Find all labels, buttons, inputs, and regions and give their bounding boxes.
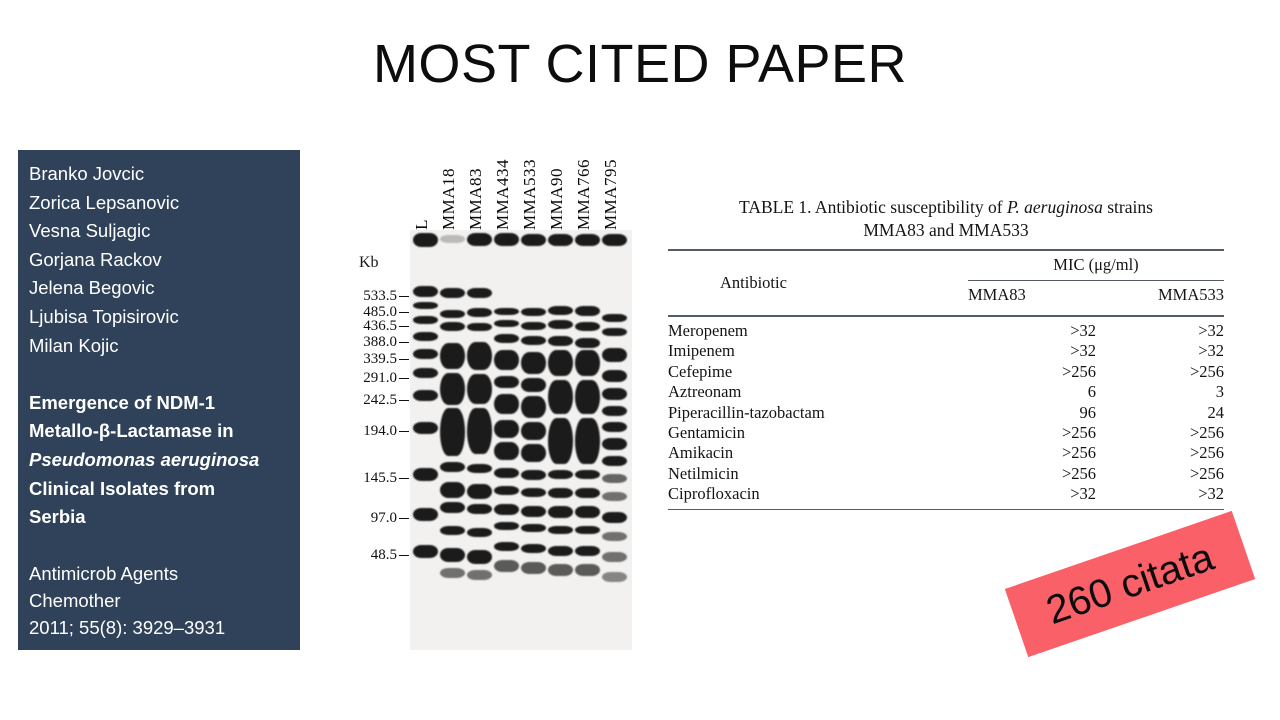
gel-lane-label: MMA533 [520, 159, 540, 230]
table-body: Meropenem >32 >32 Imipenem >32 >32 Cefep… [668, 317, 1224, 505]
citation-count-badge: 260 citata [1005, 511, 1255, 657]
gel-lane-label: MMA766 [574, 159, 594, 230]
table-row: Aztreonam 6 3 [668, 382, 1224, 402]
author-name: Ljubisa Topisirovic [29, 303, 300, 332]
gel-size-marker: 388.0 [329, 334, 409, 351]
table-row: Meropenem >32 >32 [668, 321, 1224, 341]
author-name: Zorica Lepsanovic [29, 189, 300, 218]
cell-antibiotic: Piperacillin-tazobactam [668, 403, 968, 423]
gel-size-marker: 145.5 [329, 470, 409, 487]
cell-mma83: 96 [968, 403, 1096, 423]
gel-size-marker: 194.0 [329, 423, 409, 440]
table-row: Gentamicin >256 >256 [668, 423, 1224, 443]
gel-lane-sample [520, 230, 547, 650]
author-name: Vesna Suljagic [29, 217, 300, 246]
author-name: Gorjana Rackov [29, 246, 300, 275]
cell-antibiotic: Gentamicin [668, 423, 968, 443]
table-caption-prefix: TABLE 1. Antibiotic susceptibility of [739, 197, 1007, 217]
cell-mma533: >32 [1096, 341, 1224, 361]
cell-mma533: 3 [1096, 382, 1224, 402]
gel-axis-label: Kb [359, 254, 379, 272]
antibiotic-susceptibility-table: TABLE 1. Antibiotic susceptibility of P.… [668, 196, 1224, 510]
spacer [29, 532, 300, 561]
table-caption: TABLE 1. Antibiotic susceptibility of P.… [668, 196, 1224, 249]
strain-column-headers: MMA83 MMA533 [968, 285, 1224, 305]
paper-title-line-species: Pseudomonas aeruginosa [29, 446, 300, 475]
column-header-mma533: MMA533 [1096, 285, 1224, 305]
gel-lane-ladder [412, 230, 439, 650]
table-row: Netilmicin >256 >256 [668, 464, 1224, 484]
table-row: Piperacillin-tazobactam 96 24 [668, 403, 1224, 423]
author-name: Milan Kojic [29, 332, 300, 361]
citation-count-label: 260 citata [1041, 534, 1220, 633]
gel-lane-sample [574, 230, 601, 650]
gel-lane-sample [601, 230, 628, 650]
gel-lane-label: MMA18 [439, 168, 459, 230]
gel-size-marker: 533.5 [329, 288, 409, 305]
cell-mma533: >256 [1096, 423, 1224, 443]
cell-mma83: >256 [968, 464, 1096, 484]
column-header-mma83: MMA83 [968, 285, 1096, 305]
cell-mma533: >256 [1096, 362, 1224, 382]
table-row: Imipenem >32 >32 [668, 341, 1224, 361]
gel-lane-label: L [412, 219, 432, 230]
cell-antibiotic: Meropenem [668, 321, 968, 341]
cell-mma533: >32 [1096, 321, 1224, 341]
table-caption-suffix: strains [1103, 197, 1153, 217]
author-name: Jelena Begovic [29, 274, 300, 303]
journal-citation-line: 2011; 55(8): 3929–3931 [29, 614, 300, 641]
column-header-antibiotic: Antibiotic [720, 273, 787, 293]
gel-lane-label: MMA795 [601, 159, 621, 230]
gel-lane-label: MMA434 [493, 159, 513, 230]
cell-mma533: >256 [1096, 443, 1224, 463]
gel-lane-label: MMA83 [466, 168, 486, 230]
table-caption-line2: MMA83 and MMA533 [682, 219, 1210, 242]
paper-title-line: Clinical Isolates from [29, 475, 300, 504]
gel-size-marker: 339.5 [329, 351, 409, 368]
pfge-gel-figure: Kb 533.5 485.0 436.5 388.0 339.5 291.0 2… [336, 170, 636, 655]
gel-lane-sample [493, 230, 520, 650]
cell-mma533: >256 [1096, 464, 1224, 484]
table-header: Antibiotic MIC (μg/ml) MMA83 MMA533 [668, 251, 1224, 315]
citation-panel: Branko Jovcic Zorica Lepsanovic Vesna Su… [18, 150, 300, 650]
cell-mma83: >256 [968, 423, 1096, 443]
cell-antibiotic: Aztreonam [668, 382, 968, 402]
gel-size-marker: 242.5 [329, 392, 409, 409]
spacer [29, 360, 300, 389]
gel-size-marker: 97.0 [329, 510, 409, 527]
cell-mma83: >256 [968, 443, 1096, 463]
gel-plate-image [410, 230, 632, 650]
journal-name-line: Chemother [29, 587, 300, 614]
column-header-mic-group: MIC (μg/ml) [968, 255, 1224, 275]
table-row: Cefepime >256 >256 [668, 362, 1224, 382]
cell-antibiotic: Amikacin [668, 443, 968, 463]
page-title: MOST CITED PAPER [0, 33, 1280, 95]
gel-size-marker: 291.0 [329, 370, 409, 387]
gel-lane-sample [439, 230, 466, 650]
gel-lane-label: MMA90 [547, 168, 567, 230]
gel-size-marker: 48.5 [329, 547, 409, 564]
paper-title-line: Emergence of NDM-1 [29, 389, 300, 418]
cell-mma83: >256 [968, 362, 1096, 382]
cell-mma83: >32 [968, 484, 1096, 504]
mic-group-rule [968, 280, 1224, 281]
cell-mma533: 24 [1096, 403, 1224, 423]
cell-mma83: >32 [968, 341, 1096, 361]
gel-lane-sample [466, 230, 493, 650]
cell-antibiotic: Netilmicin [668, 464, 968, 484]
cell-mma83: >32 [968, 321, 1096, 341]
paper-title-line: Metallo-β-Lactamase in [29, 417, 300, 446]
table-caption-species: P. aeruginosa [1007, 197, 1103, 217]
table-row: Ciprofloxacin >32 >32 [668, 484, 1224, 504]
author-name: Branko Jovcic [29, 160, 300, 189]
cell-mma83: 6 [968, 382, 1096, 402]
gel-lane-sample [547, 230, 574, 650]
cell-antibiotic: Ciprofloxacin [668, 484, 968, 504]
table-bottom-rule [668, 509, 1224, 510]
table-row: Amikacin >256 >256 [668, 443, 1224, 463]
cell-antibiotic: Imipenem [668, 341, 968, 361]
gel-size-marker: 436.5 [329, 318, 409, 335]
journal-name-line: Antimicrob Agents [29, 560, 300, 587]
cell-mma533: >32 [1096, 484, 1224, 504]
paper-title-line: Serbia [29, 503, 300, 532]
cell-antibiotic: Cefepime [668, 362, 968, 382]
